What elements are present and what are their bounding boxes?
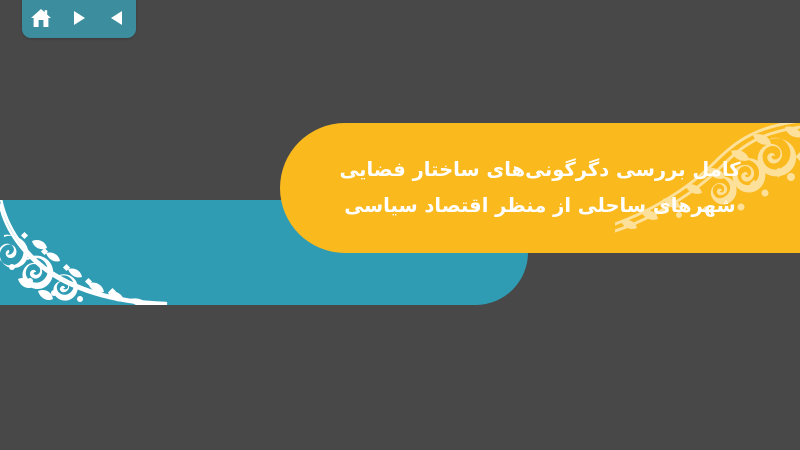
back-arrow-icon	[108, 9, 126, 27]
yellow-title-banner: کامل بررسی دگرگونی‌های ساختار فضایی شهره…	[280, 123, 800, 253]
navigation-bar	[22, 0, 136, 38]
title-line-1: کامل بررسی دگرگونی‌های ساختار فضایی	[280, 152, 800, 188]
back-button[interactable]	[102, 4, 132, 32]
slide-title: کامل بررسی دگرگونی‌های ساختار فضایی شهره…	[280, 152, 800, 224]
teal-arabesque-ornament	[0, 200, 168, 305]
slide-canvas: کامل بررسی دگرگونی‌های ساختار فضایی شهره…	[0, 0, 800, 450]
forward-button[interactable]	[64, 4, 94, 32]
home-button[interactable]	[26, 4, 56, 32]
forward-arrow-icon	[70, 9, 88, 27]
home-icon	[30, 8, 52, 28]
title-line-2: شهرهای ساحلی از منظر اقتصاد سیاسی	[280, 188, 800, 224]
